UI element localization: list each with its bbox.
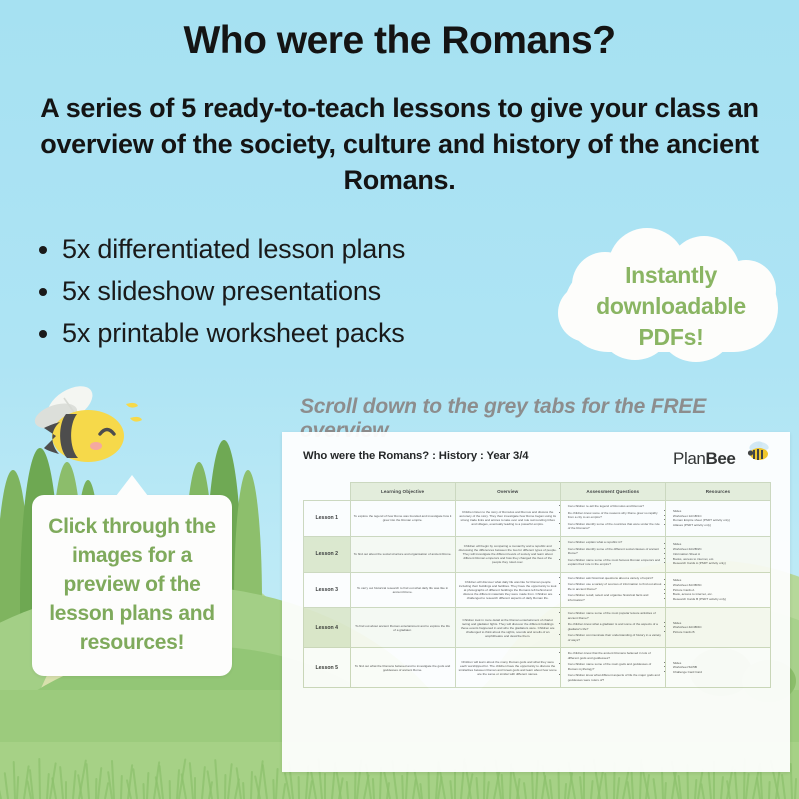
resource-item: Roman Empire sheet (PSDT activity only) — [673, 518, 767, 522]
assessment-questions-cell: Can children explain what a republic is?… — [560, 536, 665, 572]
assessment-question-item: Can children explain what a republic is? — [568, 540, 662, 544]
grass-blade — [579, 776, 583, 799]
feature-bullet: 5x printable worksheet packs — [62, 312, 546, 354]
feature-bullet: 5x slideshow presentations — [62, 270, 546, 312]
table-row: Lesson 4To find out about ancient Roman … — [304, 608, 771, 648]
grass-blade — [475, 777, 479, 799]
grass-blade — [616, 777, 620, 799]
assessment-questions-cell: Can children ask historical questions ab… — [560, 572, 665, 608]
lesson-number-cell: Lesson 1 — [304, 501, 351, 537]
grass-blade — [0, 783, 2, 799]
learning-objective-cell: To find out about ancient Roman entertai… — [350, 608, 455, 648]
grass-blade — [523, 782, 527, 799]
table-body: Lesson 1To explore the legend of how Rom… — [304, 501, 771, 688]
resource-item: Worksheet 5A/5B — [673, 665, 767, 669]
resource-item: Research Cards B (PSDT activity only) — [673, 597, 767, 601]
grass-blade — [111, 760, 115, 799]
assessment-question-item: Can children recall, select and organise… — [568, 593, 662, 601]
grass-blade — [346, 781, 349, 799]
grass-blade — [454, 769, 456, 799]
resource-item: Book, access to internet, etc. — [673, 592, 767, 596]
grass-blade — [201, 766, 206, 799]
resource-item: Worksheet 2A/2B/2C — [673, 547, 767, 551]
grass-blade — [133, 768, 139, 799]
poster-canvas: Who were the Romans? A series of 5 ready… — [0, 0, 799, 799]
table-row: Lesson 1To explore the legend of how Rom… — [304, 501, 771, 537]
assessment-question-item: Do children know that the ancient Romans… — [568, 651, 662, 659]
grass-blade — [242, 782, 245, 799]
resource-item: Slides — [673, 661, 767, 665]
cloud-line-2: downloadable — [556, 291, 786, 322]
resource-item: Challenge Card Card — [673, 670, 767, 674]
document-title: Who were the Romans? : History : Year 3/… — [303, 450, 528, 462]
grass-blade — [449, 780, 453, 799]
grass-blade — [85, 763, 90, 799]
grass-blade — [16, 776, 19, 799]
click-through-callout[interactable]: Click through the images for a preview o… — [32, 495, 232, 676]
poster-headline: Who were the Romans? — [0, 18, 799, 64]
grass-blade — [701, 783, 706, 799]
assessment-questions-cell: Can children re-tell the legend of Romul… — [560, 501, 665, 537]
grass-blade — [120, 775, 123, 799]
grass-blade — [734, 769, 738, 799]
grass-blade — [97, 767, 102, 799]
grass-blade — [486, 781, 490, 799]
grass-blade — [781, 774, 786, 799]
grass-blade — [38, 758, 41, 799]
planbee-logo: PlanBee — [673, 445, 769, 475]
grass-blade — [168, 780, 170, 799]
assessment-question-item: Can children name some of the main gods … — [568, 662, 662, 670]
page-subtitle: A series of 5 ready-to-teach lessons to … — [30, 90, 769, 198]
assessment-question-item: Do children know some of the reasons why… — [568, 511, 662, 519]
grass-blade — [420, 783, 424, 799]
grass-blade — [52, 777, 58, 799]
lesson-number-cell: Lesson 2 — [304, 536, 351, 572]
resource-item: Worksheet 3A/3B/3C — [673, 583, 767, 587]
table-head: Learning ObjectiveOverviewAssessment Que… — [304, 483, 771, 501]
assessment-questions-cell: Do children know that the ancient Romans… — [560, 648, 665, 688]
lesson-number-cell: Lesson 5 — [304, 648, 351, 688]
grass-blade — [224, 774, 226, 799]
table-header-row: Learning ObjectiveOverviewAssessment Que… — [304, 483, 771, 501]
learning-objective-cell: To find out what the Romans believed and… — [350, 648, 455, 688]
assessment-question-item: Can children identify some of the countr… — [568, 522, 662, 530]
grass-blade — [652, 778, 657, 799]
resource-item: Atlases (PSDT activity only) — [673, 523, 767, 527]
assessment-question-item: Can children re-tell the legend of Romul… — [568, 504, 662, 508]
grass-blade — [324, 773, 326, 799]
resource-item: Slides — [673, 578, 767, 582]
grass-blade — [531, 771, 534, 799]
grass-blade — [65, 781, 67, 799]
overview-cell: Children will discover what daily life w… — [455, 572, 560, 608]
bee-mascot-icon — [26, 378, 144, 474]
grass-blade — [501, 774, 504, 799]
page-title: Who were the Romans? — [0, 18, 799, 64]
overview-cell: Children will learn about the many Roman… — [455, 648, 560, 688]
planbee-wordmark: PlanBee — [673, 449, 735, 469]
grass-blade — [557, 768, 560, 799]
grass-blade — [720, 776, 724, 799]
resource-item: Slides — [673, 621, 767, 625]
resources-cell: SlidesWorksheet 5A/5BChallenge Card Card — [665, 648, 770, 688]
callout-pointer — [116, 475, 148, 496]
grass-blade — [189, 762, 194, 799]
grass-blade — [794, 778, 797, 799]
grass-blade — [215, 759, 220, 799]
document-header: Who were the Romans? : History : Year 3/… — [303, 450, 773, 478]
assessment-question-item: Can children name some of the most famou… — [568, 558, 662, 566]
lesson-overview-table: Learning ObjectiveOverviewAssessment Que… — [303, 482, 771, 688]
table-column-header — [304, 483, 351, 501]
grass-blade — [12, 761, 15, 799]
feature-bullet: 5x differentiated lesson plans — [62, 228, 546, 270]
grass-blade — [4, 772, 9, 799]
resource-item: Slides — [673, 542, 767, 546]
table-row: Lesson 5To find out what the Romans beli… — [304, 648, 771, 688]
grass-blade — [72, 770, 77, 799]
table-column-header: Assessment Questions — [560, 483, 665, 501]
resource-item: Information Sheet A — [673, 552, 767, 556]
table-row: Lesson 3To carry out historical research… — [304, 572, 771, 608]
resources-cell: SlidesWorksheet 3A/3B/3CPicture Cards AB… — [665, 572, 770, 608]
grass-blade — [194, 777, 196, 799]
grass-blade — [604, 773, 608, 799]
learning-objective-cell: To explore the legend of how Rome was fo… — [350, 501, 455, 537]
resource-item: Books, access to internet, etc. — [673, 557, 767, 561]
assessment-question-item: Do children know what a gladiator is and… — [568, 622, 662, 630]
grass-blade — [708, 772, 712, 799]
table-column-header: Overview — [455, 483, 560, 501]
grass-blade — [250, 771, 253, 799]
grass-blade — [745, 773, 750, 799]
grass-blade — [590, 780, 594, 799]
grass-blade — [664, 782, 667, 799]
cloud-badge-text: Instantly downloadable PDFs! — [556, 260, 786, 353]
grass-blade — [768, 781, 771, 799]
table-row: Lesson 2To find out about the social str… — [304, 536, 771, 572]
grass-blade — [59, 766, 64, 799]
assessment-question-item: Can children ask historical questions ab… — [568, 576, 662, 580]
grass-blade — [146, 772, 149, 799]
overview-cell: Children look in more detail at the Roma… — [455, 608, 560, 648]
resource-item: Picture Cards B — [673, 630, 767, 634]
resource-item: Picture Cards A — [673, 588, 767, 592]
brand-bold: Bee — [705, 449, 735, 468]
grass-blade — [262, 764, 268, 799]
assessment-question-item: Can children communicate their understan… — [568, 633, 662, 641]
grass-blade — [630, 770, 634, 799]
assessment-question-item: Can children name some of the most popul… — [568, 611, 662, 619]
callout-text: Click through the images for a preview o… — [46, 512, 218, 657]
assessment-question-item: Can children identify some of the differ… — [568, 547, 662, 555]
lesson-number-cell: Lesson 3 — [304, 572, 351, 608]
instant-download-cloud-badge: Instantly downloadable PDFs! — [556, 222, 786, 372]
table-column-header: Resources — [665, 483, 770, 501]
cloud-line-3: PDFs! — [556, 322, 786, 353]
resource-item: Slides — [673, 509, 767, 513]
lesson-number-cell: Lesson 4 — [304, 608, 351, 648]
overview-cell: Children will begin by comparing a monar… — [455, 536, 560, 572]
logo-bee-icon — [745, 441, 771, 463]
resource-item: Research Cards A (PSDT activity only) — [673, 561, 767, 565]
learning-objective-cell: To carry out historical research to find… — [350, 572, 455, 608]
resources-cell: SlidesWorksheet 1A/1B/1CRoman Empire she… — [665, 501, 770, 537]
overview-cell: Children listen to the story of Romulus … — [455, 501, 560, 537]
resource-item: Worksheet 4A/4B/4C — [673, 625, 767, 629]
brand-plain: Plan — [673, 449, 705, 468]
grass-blade — [428, 772, 430, 799]
grass-blade — [143, 783, 146, 799]
assessment-questions-cell: Can children name some of the most popul… — [560, 608, 665, 648]
table-column-header: Learning Objective — [350, 483, 455, 501]
resources-cell: SlidesWorksheet 2A/2B/2CInformation Shee… — [665, 536, 770, 572]
grass-blade — [790, 763, 793, 799]
resources-cell: SlidesWorksheet 4A/4B/4CPicture Cards B — [665, 608, 770, 648]
grass-blade — [227, 763, 233, 799]
learning-objective-cell: To find out about the social structure a… — [350, 536, 455, 572]
grass-blade — [298, 776, 300, 799]
grass-blade — [275, 768, 279, 799]
lesson-overview-document-preview[interactable]: Who were the Romans? : History : Year 3/… — [282, 432, 790, 772]
feature-bullet-list: 5x differentiated lesson plans5x slidesh… — [26, 228, 546, 354]
assessment-question-item: Can children use a variety of sources of… — [568, 582, 662, 590]
resource-item: Worksheet 1A/1B/1C — [673, 514, 767, 518]
cloud-line-1: Instantly — [556, 260, 786, 291]
grass-blade — [402, 775, 405, 799]
grass-blade — [371, 778, 374, 799]
assessment-question-item: Can children know what different aspects… — [568, 673, 662, 681]
